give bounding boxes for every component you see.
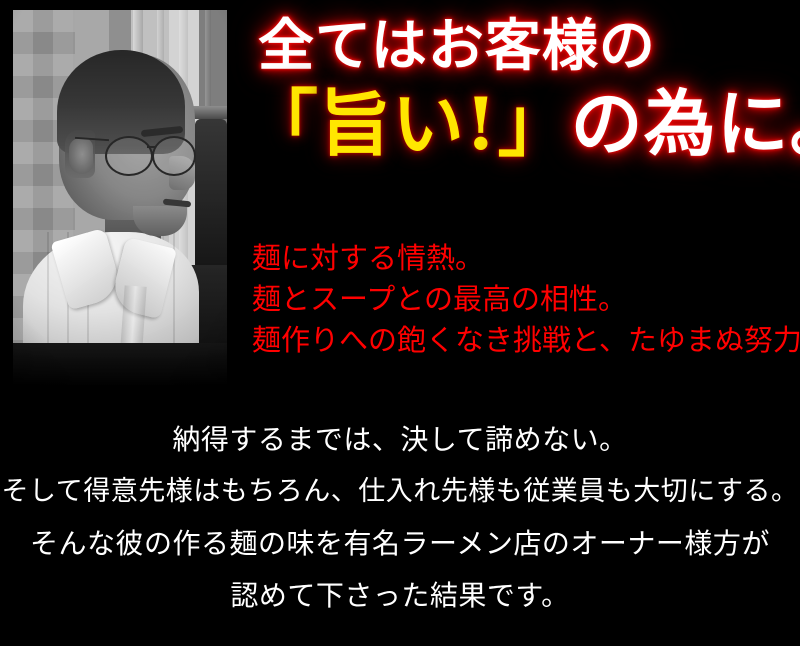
white-copy-line: 納得するまでは、決して諦めない。 (0, 414, 800, 466)
headline-open-bracket: 「 (246, 81, 319, 166)
red-copy-line: 麺作りへの飽くなき挑戦と、たゆまぬ努力。 (252, 320, 792, 361)
photo-dark-object (195, 119, 227, 289)
headline-line-1: 全てはお客様の (246, 18, 794, 74)
red-copy-block: 麺に対する情熱。 麺とスープとの最高の相性。 麺作りへの飽くなき挑戦と、たゆまぬ… (252, 238, 792, 361)
headline-line-2: 「旨い!」の為に。 (246, 88, 794, 160)
portrait-glasses-lens-left (105, 136, 153, 176)
headline-close-bracket: 」 (498, 81, 571, 166)
headline: 全てはお客様の 「旨い!」の為に。 (246, 18, 794, 160)
white-copy-line: そんな彼の作る麺の味を有名ラーメン店のオーナー様方が (0, 518, 800, 570)
headline-tail: の為に。 (571, 81, 800, 166)
photo-foreground-counter (13, 343, 227, 385)
white-copy-line: 認めて下さった結果です。 (0, 570, 800, 622)
white-copy-block: 納得するまでは、決して諦めない。 そして得意先様はもちろん、仕入れ先様も従業員も… (0, 414, 800, 622)
portrait-ear (69, 138, 93, 174)
portrait-photo (13, 10, 227, 385)
poster-banner: 全てはお客様の 「旨い!」の為に。 麺に対する情熱。 麺とスープとの最高の相性。… (0, 0, 800, 646)
headline-emphasis-umai: 旨い! (319, 81, 498, 166)
portrait-photo-canvas (13, 10, 227, 385)
portrait-glasses-bridge (147, 146, 155, 148)
red-copy-line: 麺とスープとの最高の相性。 (252, 279, 792, 320)
white-copy-line: そして得意先様はもちろん、仕入れ先様も従業員も大切にする。 (0, 466, 800, 518)
portrait-glasses-lens-right (152, 136, 196, 176)
red-copy-line: 麺に対する情熱。 (252, 238, 792, 279)
